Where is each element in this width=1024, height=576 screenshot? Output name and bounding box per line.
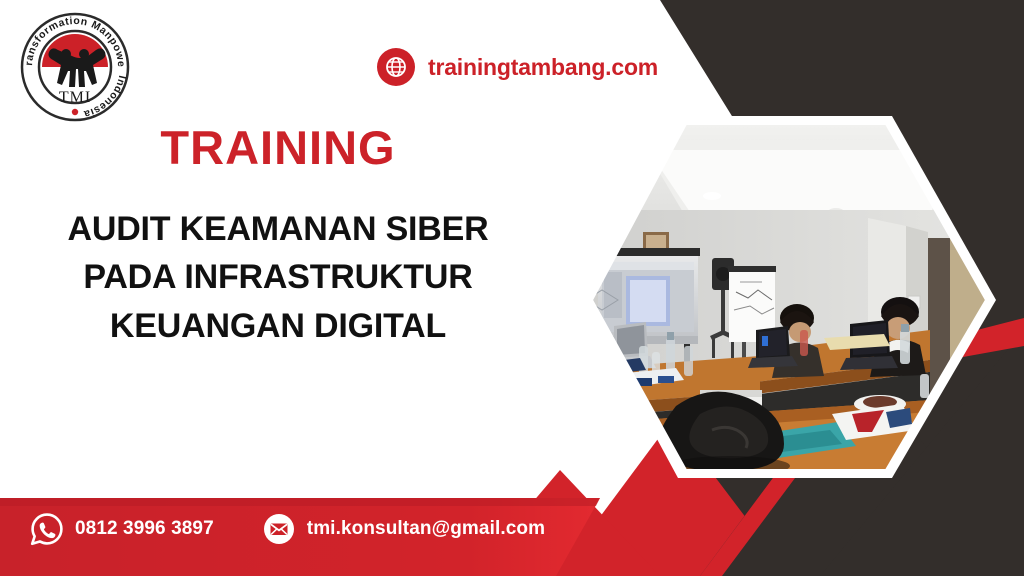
- whatsapp-icon: [30, 512, 64, 546]
- envelope-icon: [262, 512, 296, 546]
- page-title: AUDIT KEAMANAN SIBER PADA INFRASTRUKTUR …: [0, 205, 556, 350]
- eyebrow-training: TRAINING: [0, 124, 556, 171]
- promo-banner: TMI Transformation Manpower Indonesia tr…: [0, 0, 1024, 576]
- website-row[interactable]: trainingtambang.com: [377, 48, 658, 86]
- whatsapp-contact[interactable]: 0812 3996 3897: [30, 512, 214, 546]
- title-line-1: AUDIT KEAMANAN SIBER: [0, 205, 556, 253]
- email-contact[interactable]: tmi.konsultan@gmail.com: [262, 512, 545, 546]
- title-line-2: PADA INFRASTRUKTUR: [0, 253, 556, 301]
- logo-initials: TMI: [59, 89, 91, 106]
- tmi-logo: TMI Transformation Manpower Indonesia: [18, 10, 132, 124]
- phone-number[interactable]: 0812 3996 3897: [75, 518, 214, 540]
- title-line-3: KEUANGAN DIGITAL: [0, 302, 556, 350]
- footer-bar-highlight: [0, 498, 600, 506]
- footer-contacts: 0812 3996 3897 tmi.konsultan@gmail.com: [30, 512, 545, 546]
- website-url[interactable]: trainingtambang.com: [428, 54, 658, 81]
- globe-icon: [377, 48, 415, 86]
- email-address[interactable]: tmi.konsultan@gmail.com: [307, 518, 545, 540]
